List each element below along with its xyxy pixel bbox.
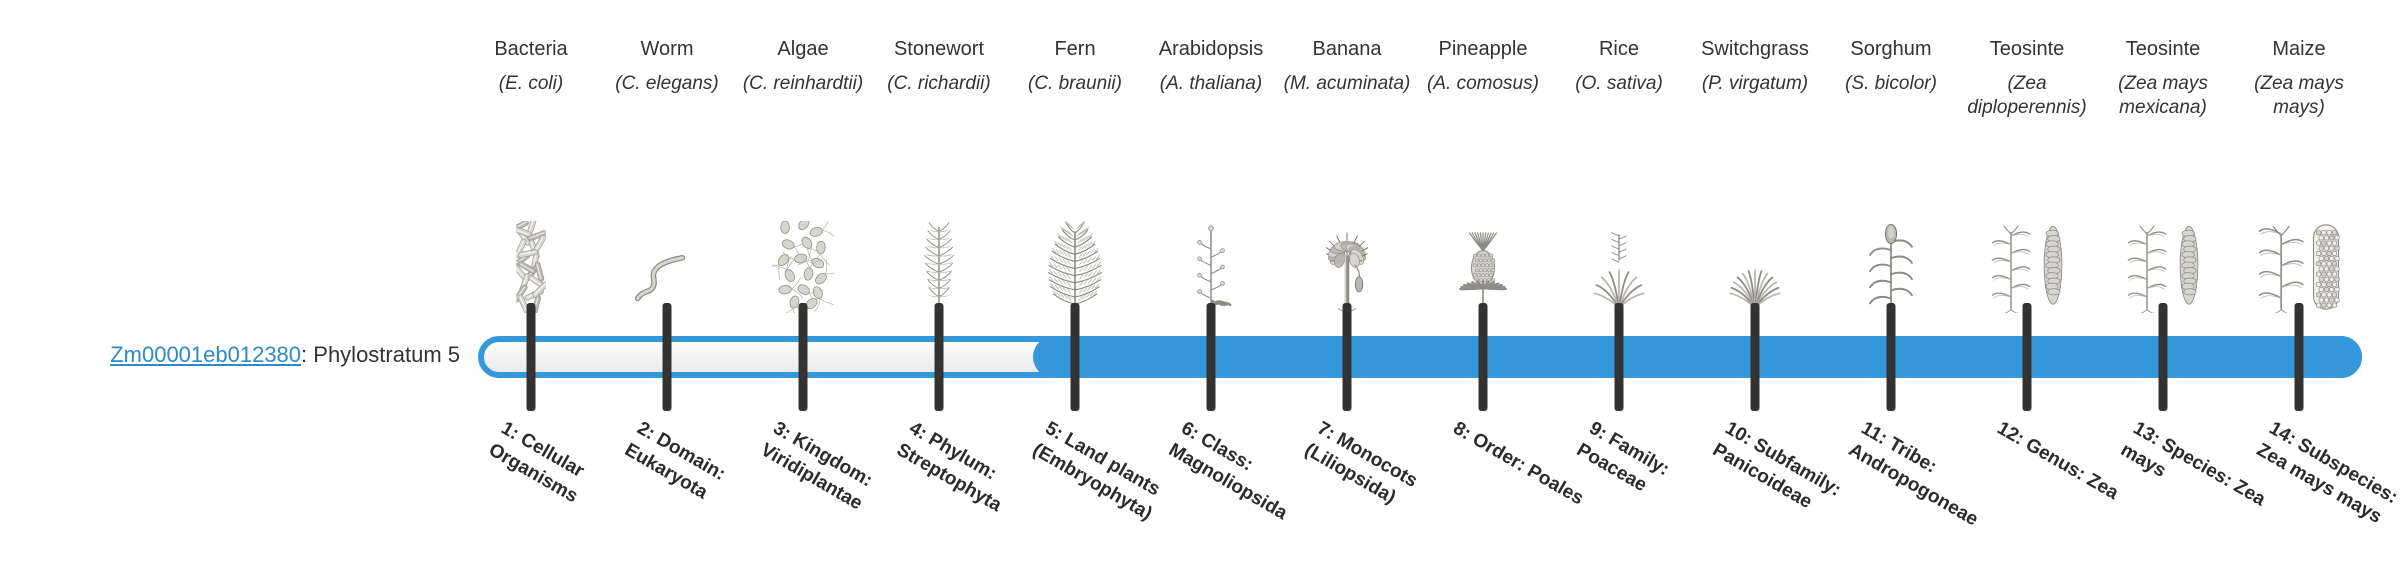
- species-column: Teosinte (Zea mays mexicana): [2095, 36, 2231, 120]
- teosinte-mexicana-illustration: [2095, 168, 2231, 313]
- maize-cob-illustration: [2310, 221, 2342, 313]
- arabidopsis-illustration: [1143, 168, 1279, 313]
- phylostratum-tick-label: 4: Phylum: Streptophyta: [892, 416, 1047, 534]
- species-column: Worm (C. elegans): [599, 36, 735, 96]
- species-scientific-name: (A. comosus): [1415, 72, 1551, 96]
- species-scientific-name: (E. coli): [463, 72, 599, 96]
- species-column: Sorghum (S. bicolor): [1823, 36, 1959, 96]
- algae-illustration: [735, 168, 871, 313]
- species-common-name: Rice: [1551, 36, 1687, 62]
- species-column: Bacteria (E. coli): [463, 36, 599, 96]
- nematode-illustration: [632, 253, 702, 313]
- species-common-name: Switchgrass: [1687, 36, 1823, 62]
- species-scientific-name: (C. elegans): [599, 72, 735, 96]
- gene-phylostratum-label: Zm00001eb012380: Phylostratum 5: [40, 340, 460, 370]
- phylostratum-tick-label: 3: Kingdom: Viridiplantae: [756, 416, 911, 534]
- fern-illustration: [1007, 168, 1143, 313]
- species-column: Banana (M. acuminata): [1279, 36, 1415, 96]
- teosinte-plant-illustration: [2122, 221, 2172, 313]
- species-column: Rice (O. sativa): [1551, 36, 1687, 96]
- species-illustration-row: [463, 168, 2135, 313]
- phylostratum-value: Phylostratum 5: [313, 342, 460, 367]
- species-scientific-name: (P. virgatum): [1687, 72, 1823, 96]
- phylostratum-bar-fill: [1054, 336, 2362, 378]
- teosinte-plant-illustration: [1986, 221, 2036, 313]
- species-column: Arabidopsis (A. thaliana): [1143, 36, 1279, 96]
- species-common-name: Maize: [2231, 36, 2367, 62]
- species-common-name: Fern: [1007, 36, 1143, 62]
- gene-id-link[interactable]: Zm00001eb012380: [110, 342, 301, 367]
- species-scientific-name: (Zea diploperennis): [1959, 72, 2095, 120]
- sorghum-illustration: [1860, 221, 1922, 313]
- phylostratum-tick-label: 10: Subfamily: Panicoideae: [1708, 416, 1863, 534]
- species-scientific-name: (C. reinhardtii): [735, 72, 871, 96]
- switchgrass-illustration: [1720, 221, 1790, 313]
- species-common-name: Arabidopsis: [1143, 36, 1279, 62]
- species-common-name: Stonewort: [871, 36, 1007, 62]
- phylostratum-tick-label: 12: Genus: Zea: [1993, 416, 2135, 513]
- arabidopsis-illustration: [1180, 221, 1242, 313]
- species-common-name: Algae: [735, 36, 871, 62]
- rice-illustration: [1584, 221, 1654, 313]
- phylostratum-widget: Zm00001eb012380: Phylostratum 5 Bacteria…: [0, 0, 2400, 580]
- gene-label-separator: :: [301, 342, 313, 367]
- algae-illustration: [772, 221, 834, 313]
- fern-illustration: [1042, 221, 1108, 313]
- species-column: Fern (C. braunii): [1007, 36, 1143, 96]
- species-scientific-name: (C. braunii): [1007, 72, 1143, 96]
- species-common-name: Teosinte: [2095, 36, 2231, 62]
- species-scientific-name: (M. acuminata): [1279, 72, 1415, 96]
- maize-illustration: [2231, 168, 2367, 313]
- species-common-name: Bacteria: [463, 36, 599, 62]
- phylostratum-bar-fill-cap: [1033, 336, 1075, 378]
- phylostratum-tick-label: 13: Species: Zea mays: [2116, 416, 2271, 534]
- switchgrass-illustration: [1687, 168, 1823, 313]
- pineapple-illustration: [1450, 221, 1516, 313]
- pineapple-illustration: [1415, 168, 1551, 313]
- phylostratum-tick-label: 8: Order: Poales: [1449, 416, 1591, 513]
- species-scientific-name: (Zea mays mays): [2231, 72, 2367, 120]
- species-column: Switchgrass (P. virgatum): [1687, 36, 1823, 96]
- species-common-name: Sorghum: [1823, 36, 1959, 62]
- species-common-name: Teosinte: [1959, 36, 2095, 62]
- species-scientific-name: (Zea mays mexicana): [2095, 72, 2231, 120]
- species-scientific-name: (A. thaliana): [1143, 72, 1279, 96]
- phylostratum-tick-label: 5: Land plants (Embryophyta): [1028, 416, 1183, 534]
- stonewort-illustration: [909, 221, 969, 313]
- phylostratum-tick-label: 7: Monocots (Liliopsida): [1300, 416, 1455, 534]
- sorghum-illustration: [1823, 168, 1959, 313]
- nematode-illustration: [599, 168, 735, 313]
- phylostratum-tick-label: 2: Domain: Eukaryota: [620, 416, 775, 534]
- species-scientific-name: (C. richardii): [871, 72, 1007, 96]
- phylostratum-tick-label: 9: Family: Poaceae: [1572, 416, 1727, 534]
- banana-illustration: [1306, 221, 1388, 313]
- species-column: Algae (C. reinhardtii): [735, 36, 871, 96]
- species-common-name: Banana: [1279, 36, 1415, 62]
- maize-plant-illustration: [2256, 221, 2308, 313]
- rice-illustration: [1551, 168, 1687, 313]
- species-column: Stonewort (C. richardii): [871, 36, 1007, 96]
- phylostratum-tick-label: 11: Tribe: Andropogoneae: [1844, 416, 1999, 534]
- species-column: Maize (Zea mays mays): [2231, 36, 2367, 120]
- banana-illustration: [1279, 168, 1415, 313]
- phylostratum-bar[interactable]: [478, 336, 2362, 378]
- bacteria-illustration: [499, 221, 563, 313]
- species-column: Pineapple (A. comosus): [1415, 36, 1551, 96]
- teosinte-ear-illustration: [2038, 221, 2068, 313]
- teosinte-ear-illustration: [2174, 221, 2204, 313]
- species-common-name: Pineapple: [1415, 36, 1551, 62]
- phylostratum-tick-label: 14: Subspecies: Zea mays mays: [2252, 416, 2400, 534]
- phylostratum-tick-label: 1: Cellular Organisms: [484, 416, 639, 534]
- teosinte-illustration: [1959, 168, 2095, 313]
- stonewort-illustration: [871, 168, 1007, 313]
- species-scientific-name: (S. bicolor): [1823, 72, 1959, 96]
- species-column: Teosinte (Zea diploperennis): [1959, 36, 2095, 120]
- species-common-name: Worm: [599, 36, 735, 62]
- bacteria-illustration: [463, 168, 599, 313]
- phylostratum-tick-label: 6: Class: Magnoliopsida: [1164, 416, 1319, 534]
- species-scientific-name: (O. sativa): [1551, 72, 1687, 96]
